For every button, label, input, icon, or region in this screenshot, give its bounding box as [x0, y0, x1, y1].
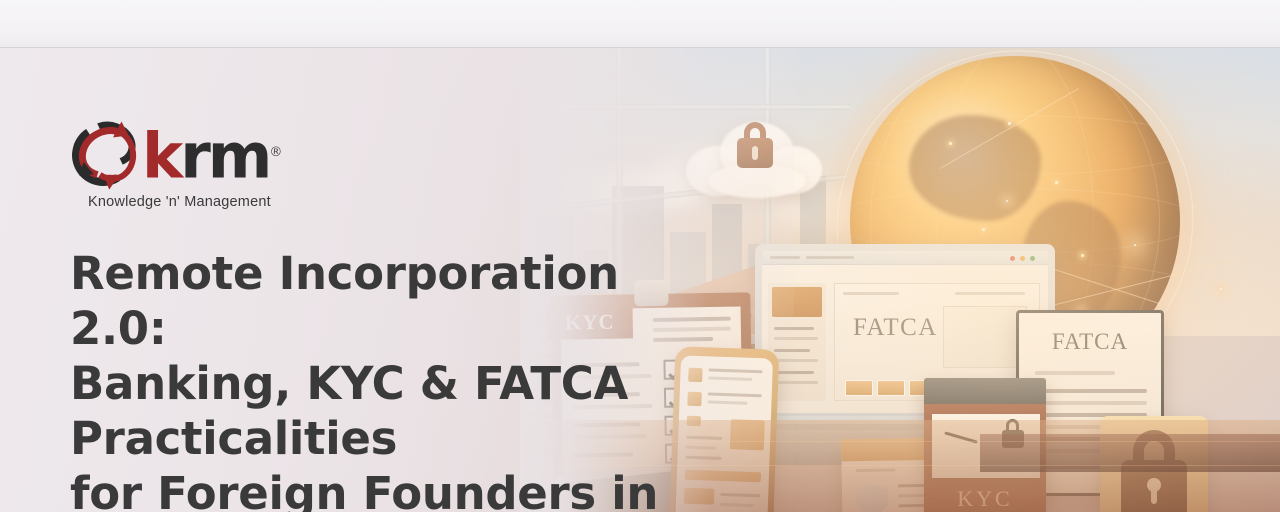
- brand-logo[interactable]: krm®: [70, 118, 280, 198]
- top-bar: [0, 0, 1280, 48]
- hero-banner: BANK OF RECORD: [0, 0, 1280, 512]
- wordmark-rm: rm: [180, 120, 269, 193]
- headline-line-1: Remote Incorporation 2.0:: [70, 247, 619, 355]
- hero-stage: BANK OF RECORD: [0, 48, 1280, 512]
- page-title: Remote Incorporation 2.0: Banking, KYC &…: [70, 246, 700, 512]
- headline-line-2: Banking, KYC & FATCA Practicalities: [70, 357, 628, 465]
- brand-tagline: Knowledge 'n' Management: [88, 194, 718, 210]
- wordmark-k: k: [142, 120, 180, 193]
- registered-mark: ®: [269, 145, 282, 160]
- headline-line-3: for Foreign Founders in 2026: [70, 467, 658, 512]
- brand-wordmark: krm®: [142, 118, 282, 192]
- krm-globe-swoosh-icon: [70, 120, 148, 190]
- hero-content: krm® Knowledge 'n' Management Remote Inc…: [0, 96, 700, 512]
